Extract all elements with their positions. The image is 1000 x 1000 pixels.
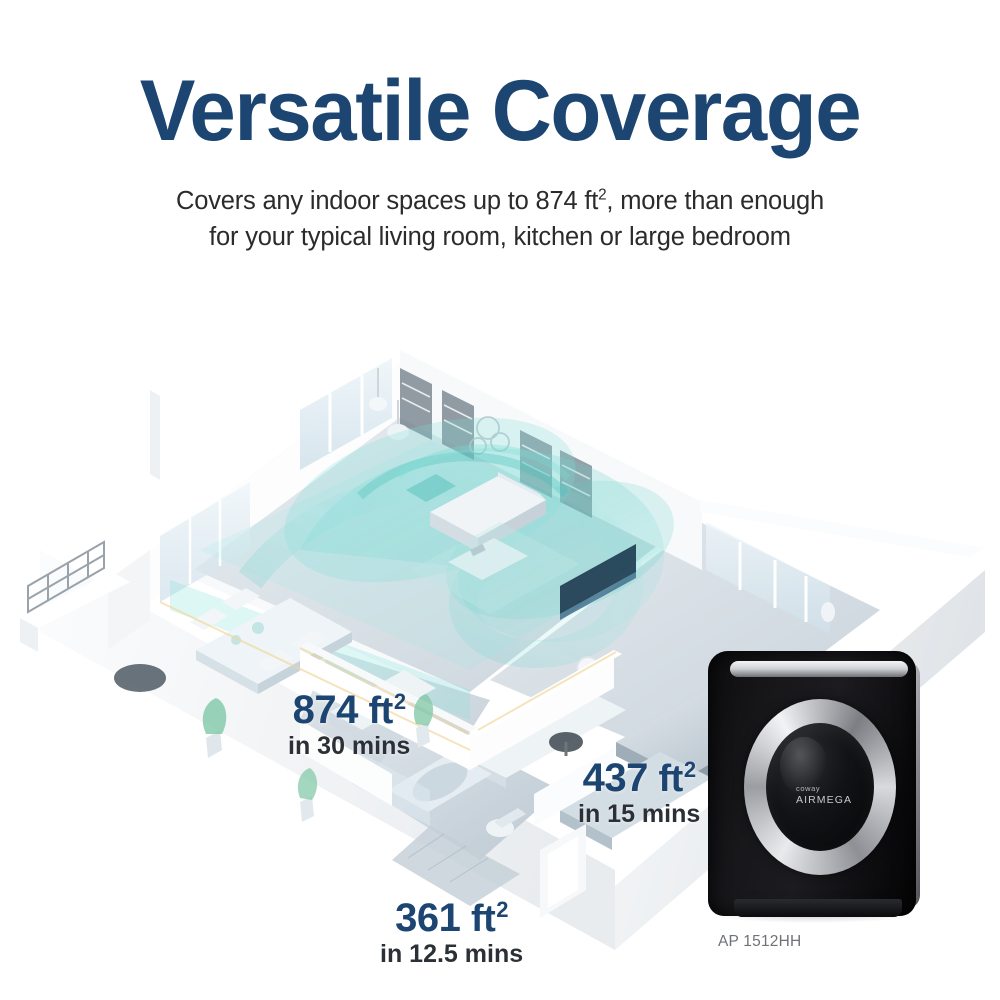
subtitle-line-1: Covers any indoor spaces up to 874 ft2, … (0, 183, 1000, 219)
subtitle-line-1-post: , more than enough (606, 187, 824, 215)
potted-plant-3 (298, 768, 317, 822)
potted-plant-1 (203, 698, 227, 758)
brand-airmega: AIRMEGA (796, 794, 876, 806)
product-base (734, 899, 902, 917)
product-model-caption: AP 1512HH (718, 933, 938, 951)
wall-sconce (821, 602, 835, 622)
product-top-lip (730, 661, 908, 677)
page-title: Versatile Coverage (15, 72, 985, 151)
product-center-panel: coway AIRMEGA (766, 723, 874, 851)
infographic-page: Versatile Coverage Covers any indoor spa… (0, 0, 1000, 1000)
subtitle-line-1-pre: Covers any indoor spaces up to 874 ft (176, 187, 598, 215)
brand-coway: coway (796, 785, 876, 794)
product-ring: coway AIRMEGA (744, 699, 896, 875)
product-body: coway AIRMEGA (708, 651, 916, 916)
product-branding: coway AIRMEGA (796, 785, 876, 806)
product-image: coway AIRMEGA AP 1512HH (700, 645, 930, 930)
